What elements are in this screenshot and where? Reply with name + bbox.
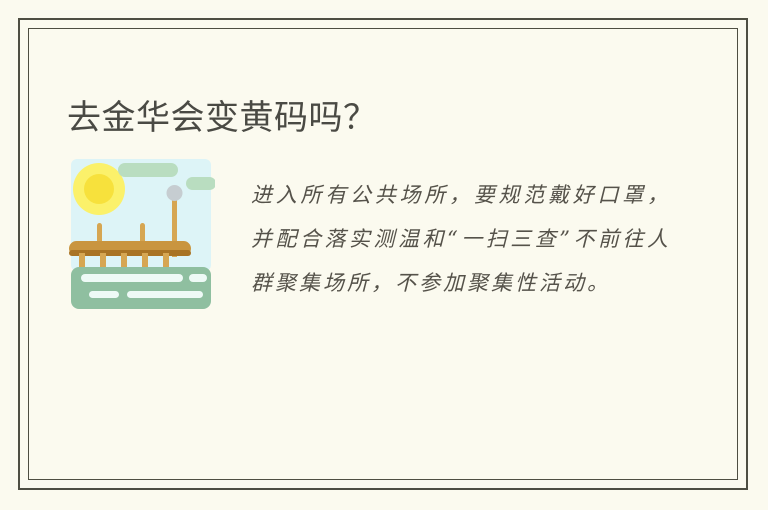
water-rect bbox=[71, 267, 211, 309]
content-row: 进入所有公共场所，要规范戴好口罩，并配合落实测温和“一扫三查”不前往人群聚集场所… bbox=[67, 149, 697, 313]
lamp-head bbox=[167, 185, 183, 201]
water-highlight-2 bbox=[189, 274, 207, 282]
card-outer-frame: 去金华会变黄码吗？ bbox=[18, 18, 748, 490]
cloud-small bbox=[186, 177, 215, 190]
water-highlight-3 bbox=[89, 291, 119, 298]
sun-core bbox=[84, 174, 114, 204]
card-body: 去金华会变黄码吗？ bbox=[29, 29, 737, 479]
seaside-pier-illustration bbox=[67, 153, 215, 313]
page-title: 去金华会变黄码吗？ bbox=[67, 100, 378, 137]
cloud-large bbox=[118, 163, 178, 177]
water-highlight-1 bbox=[81, 274, 183, 282]
body-paragraph: 进入所有公共场所，要规范戴好口罩，并配合落实测温和“一扫三查”不前往人群聚集场所… bbox=[251, 173, 671, 305]
body-copy: 进入所有公共场所，要规范戴好口罩，并配合落实测温和“一扫三查”不前往人群聚集场所… bbox=[251, 149, 697, 305]
water-highlight-4 bbox=[127, 291, 203, 298]
pier-deck-shadow bbox=[69, 250, 191, 256]
card-inner-frame: 去金华会变黄码吗？ bbox=[28, 28, 738, 480]
